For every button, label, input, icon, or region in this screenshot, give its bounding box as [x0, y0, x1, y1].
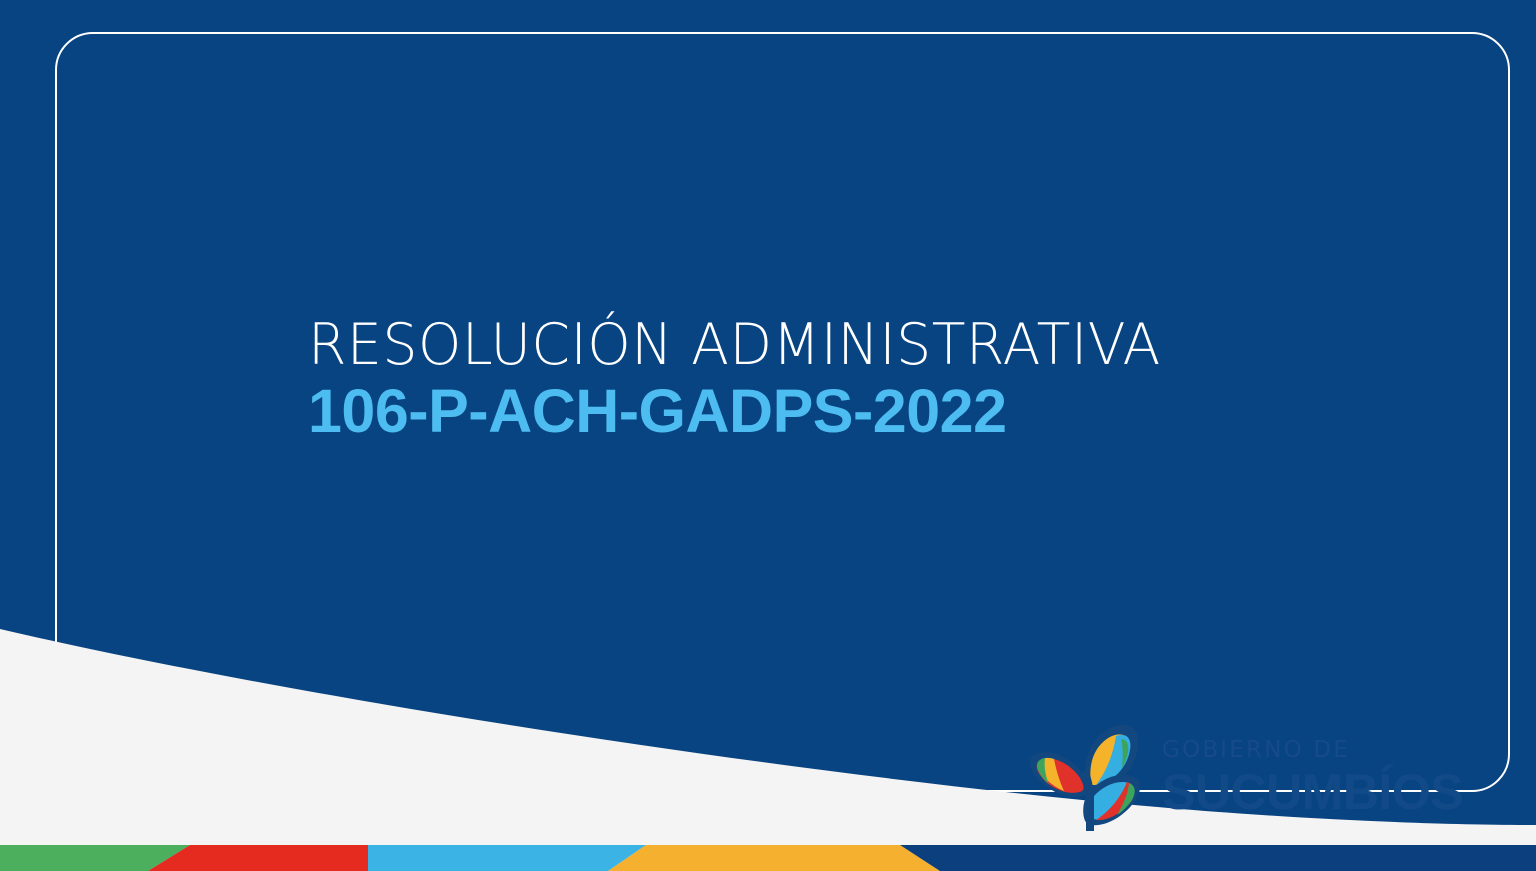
document-number-heading: 106-P-ACH-GADPS-2022 [308, 377, 1187, 445]
ribbon-segment-lightblue [368, 845, 646, 871]
bottom-color-ribbon [0, 845, 1536, 871]
logo-line-gobierno-de: GOBIERNO DE [1162, 739, 1463, 762]
ribbon-segment-orange [608, 845, 940, 871]
sucumbios-leaf-emblem-icon [1028, 723, 1148, 833]
title-block: RESOLUCIÓN ADMINISTRATIVA 106-P-ACH-GADP… [308, 316, 1187, 446]
document-type-heading: RESOLUCIÓN ADMINISTRATIVA [308, 316, 1161, 375]
logo-line-sucumbios: SUCUMBÍOS [1162, 766, 1463, 818]
ribbon-segment-navy [900, 845, 1536, 871]
government-logo-lockup: GOBIERNO DE SUCUMBÍOS [1028, 723, 1463, 833]
logo-wordmark: GOBIERNO DE SUCUMBÍOS [1162, 739, 1463, 818]
slide-canvas: RESOLUCIÓN ADMINISTRATIVA 106-P-ACH-GADP… [0, 0, 1536, 871]
